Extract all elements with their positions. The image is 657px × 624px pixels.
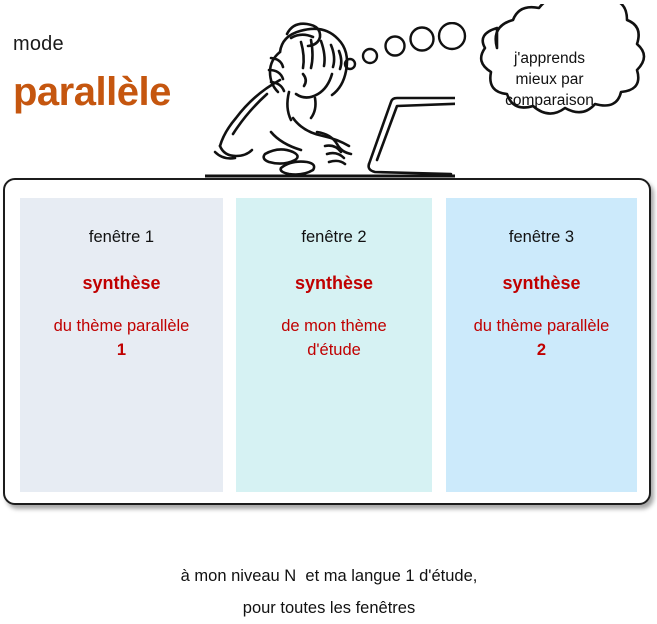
- footer-line-2: pour toutes les fenêtres: [5, 592, 653, 624]
- detail-number-3: 2: [537, 341, 546, 359]
- parallel-mode-panel: fenêtre 1 synthèse du thème parallèle 1 …: [3, 178, 651, 505]
- window-label-3: fenêtre 3: [446, 227, 637, 247]
- footer-line-1: à mon niveau N et ma langue 1 d'étude,: [5, 560, 653, 592]
- detail-text-3: du thème parallèle: [474, 317, 610, 335]
- detail-number-2: d'étude: [307, 341, 361, 359]
- synthese-heading-1: synthèse: [20, 272, 223, 294]
- mode-label: mode: [13, 33, 64, 56]
- synthese-detail-1: du thème parallèle 1: [20, 314, 223, 362]
- detail-text-1: du thème parallèle: [54, 317, 190, 335]
- detail-text-2: de mon thème: [281, 317, 386, 335]
- synthese-heading-2: synthèse: [236, 272, 432, 294]
- panel-footer-note: à mon niveau N et ma langue 1 d'étude, p…: [5, 560, 653, 624]
- synthese-detail-3: du thème parallèle 2: [446, 314, 637, 362]
- window-label-2: fenêtre 2: [236, 227, 432, 247]
- window-column-3[interactable]: fenêtre 3 synthèse du thème parallèle 2: [446, 198, 637, 492]
- synthese-heading-3: synthèse: [446, 272, 637, 294]
- thought-bubble-shape: [447, 4, 652, 149]
- mode-title: parallèle: [13, 70, 171, 115]
- detail-number-1: 1: [117, 341, 126, 359]
- window-column-2[interactable]: fenêtre 2 synthèse de mon thème d'étude: [236, 198, 432, 492]
- synthese-detail-2: de mon thème d'étude: [236, 314, 432, 362]
- window-label-1: fenêtre 1: [20, 227, 223, 247]
- window-column-1[interactable]: fenêtre 1 synthèse du thème parallèle 1: [20, 198, 223, 492]
